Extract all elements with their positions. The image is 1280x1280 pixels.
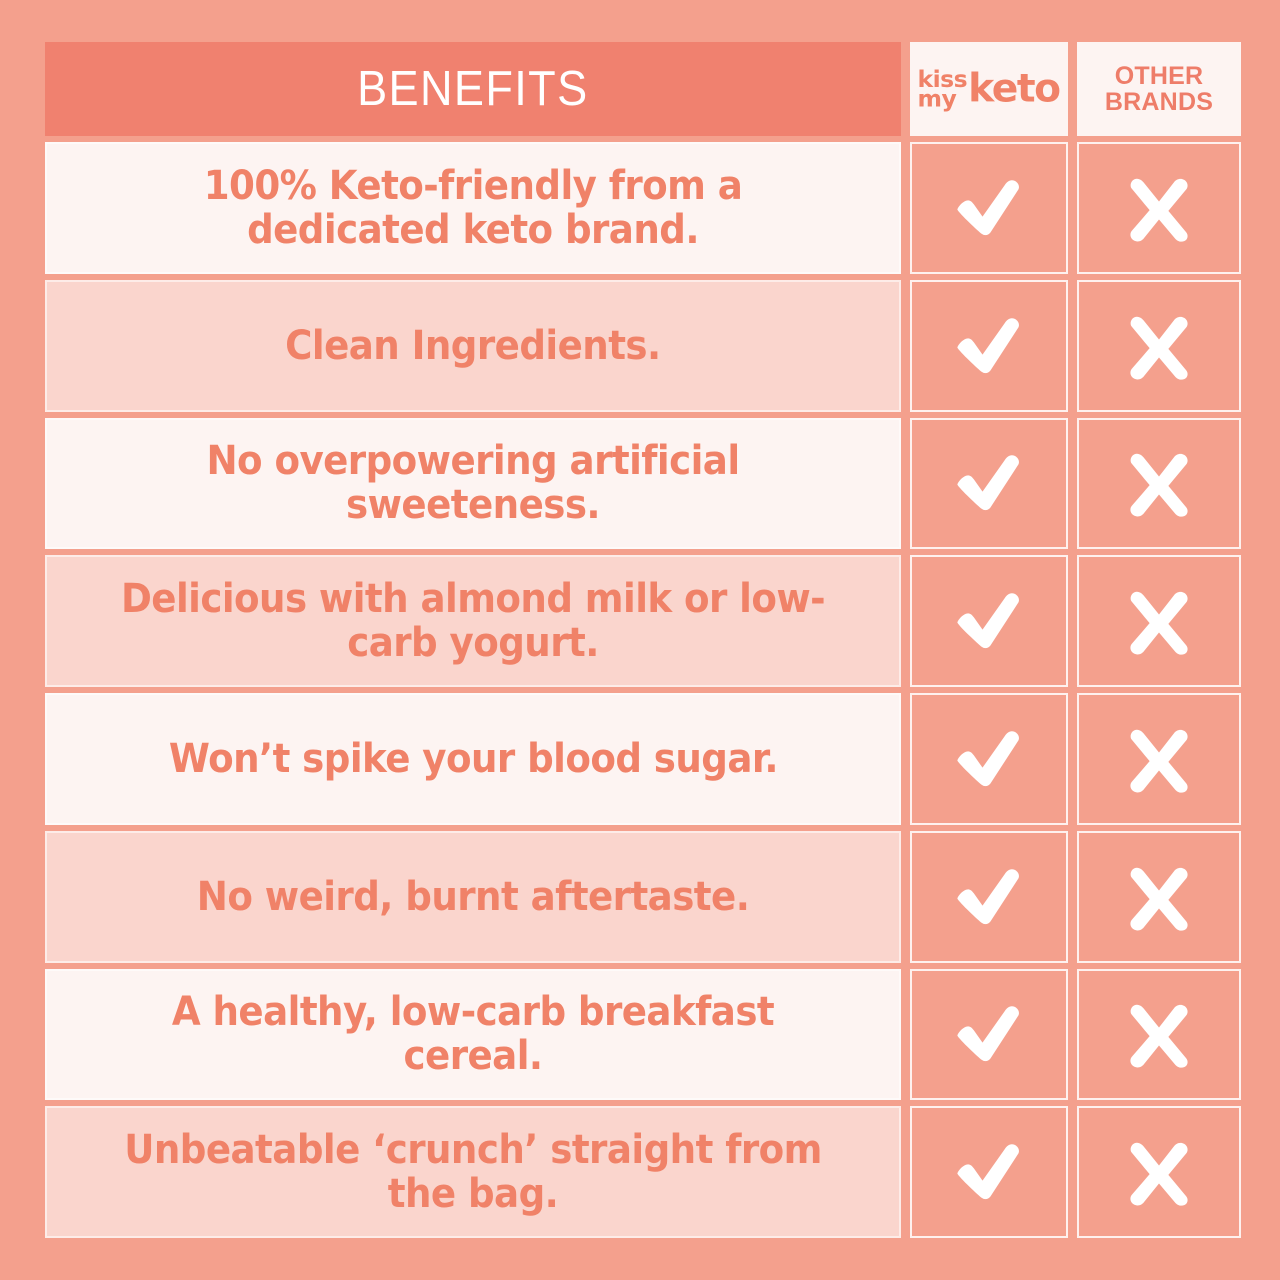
logo-stacked-words: kiss my — [918, 71, 968, 110]
benefit-text: 100% Keto-friendly from a dedicated keto… — [105, 164, 842, 252]
check-icon — [953, 172, 1025, 244]
benefit-cell: A healthy, low-carb breakfast cereal. — [45, 969, 901, 1101]
other-brands-mark-cell — [1077, 142, 1241, 274]
cross-icon — [1123, 585, 1195, 657]
benefit-text: Clean Ingredients. — [285, 324, 660, 368]
kiss-my-keto-mark-cell — [910, 280, 1068, 412]
table-row: Clean Ingredients. — [45, 280, 1235, 412]
kiss-my-keto-mark-cell — [910, 1106, 1068, 1238]
benefit-text: No weird, burnt aftertaste. — [197, 875, 749, 919]
page-title: BENEFITS — [357, 61, 588, 117]
benefit-cell: Unbeatable ‘crunch’ straight from the ba… — [45, 1106, 901, 1238]
benefit-cell: No weird, burnt aftertaste. — [45, 831, 901, 963]
cross-icon — [1123, 1136, 1195, 1208]
kiss-my-keto-mark-cell — [910, 142, 1068, 274]
other-brands-mark-cell — [1077, 418, 1241, 550]
check-icon — [953, 447, 1025, 519]
cross-icon — [1123, 998, 1195, 1070]
table-row: Won’t spike your blood sugar. — [45, 693, 1235, 825]
table-row: No overpowering artificial sweeteness. — [45, 418, 1235, 550]
benefit-text: Delicious with almond milk or low-carb y… — [105, 577, 842, 665]
header-cell-other-brands: OTHER BRANDS — [1077, 42, 1241, 136]
cross-icon — [1123, 447, 1195, 519]
benefit-text: Won’t spike your blood sugar. — [168, 737, 777, 781]
other-brands-mark-cell — [1077, 280, 1241, 412]
benefit-cell: Clean Ingredients. — [45, 280, 901, 412]
table-row: Unbeatable ‘crunch’ straight from the ba… — [45, 1106, 1235, 1238]
check-icon — [953, 1136, 1025, 1208]
table-row: Delicious with almond milk or low-carb y… — [45, 555, 1235, 687]
kiss-my-keto-mark-cell — [910, 693, 1068, 825]
logo-word-keto: keto — [969, 71, 1060, 106]
kiss-my-keto-mark-cell — [910, 418, 1068, 550]
kiss-my-keto-mark-cell — [910, 831, 1068, 963]
kiss-my-keto-mark-cell — [910, 555, 1068, 687]
table-row: No weird, burnt aftertaste. — [45, 831, 1235, 963]
check-icon — [953, 310, 1025, 382]
benefit-text: A healthy, low-carb breakfast cereal. — [105, 990, 842, 1078]
cross-icon — [1123, 310, 1195, 382]
table-body: 100% Keto-friendly from a dedicated keto… — [45, 142, 1235, 1238]
benefits-comparison-table: BENEFITS kiss my keto OTHER BRANDS 100% … — [45, 42, 1235, 1238]
other-brands-line2: BRANDS — [1105, 89, 1213, 116]
kiss-my-keto-mark-cell — [910, 969, 1068, 1101]
check-icon — [953, 723, 1025, 795]
header-cell-benefits: BENEFITS — [45, 42, 901, 136]
benefit-cell: 100% Keto-friendly from a dedicated keto… — [45, 142, 901, 274]
table-row: A healthy, low-carb breakfast cereal. — [45, 969, 1235, 1101]
other-brands-mark-cell — [1077, 969, 1241, 1101]
other-brands-label: OTHER BRANDS — [1105, 63, 1213, 116]
benefit-text: No overpowering artificial sweeteness. — [105, 439, 842, 527]
header-cell-kiss-my-keto: kiss my keto — [910, 42, 1068, 136]
benefit-cell: Won’t spike your blood sugar. — [45, 693, 901, 825]
benefit-cell: No overpowering artificial sweeteness. — [45, 418, 901, 550]
check-icon — [953, 585, 1025, 657]
cross-icon — [1123, 861, 1195, 933]
other-brands-mark-cell — [1077, 693, 1241, 825]
cross-icon — [1123, 172, 1195, 244]
benefit-text: Unbeatable ‘crunch’ straight from the ba… — [105, 1128, 842, 1216]
cross-icon — [1123, 723, 1195, 795]
benefit-cell: Delicious with almond milk or low-carb y… — [45, 555, 901, 687]
other-brands-mark-cell — [1077, 555, 1241, 687]
kiss-my-keto-logo: kiss my keto — [918, 69, 1060, 110]
logo-word-my: my — [918, 90, 957, 109]
check-icon — [953, 998, 1025, 1070]
other-brands-line1: OTHER — [1105, 63, 1213, 90]
table-header-row: BENEFITS kiss my keto OTHER BRANDS — [45, 42, 1235, 136]
other-brands-mark-cell — [1077, 831, 1241, 963]
check-icon — [953, 861, 1025, 933]
table-row: 100% Keto-friendly from a dedicated keto… — [45, 142, 1235, 274]
other-brands-mark-cell — [1077, 1106, 1241, 1238]
